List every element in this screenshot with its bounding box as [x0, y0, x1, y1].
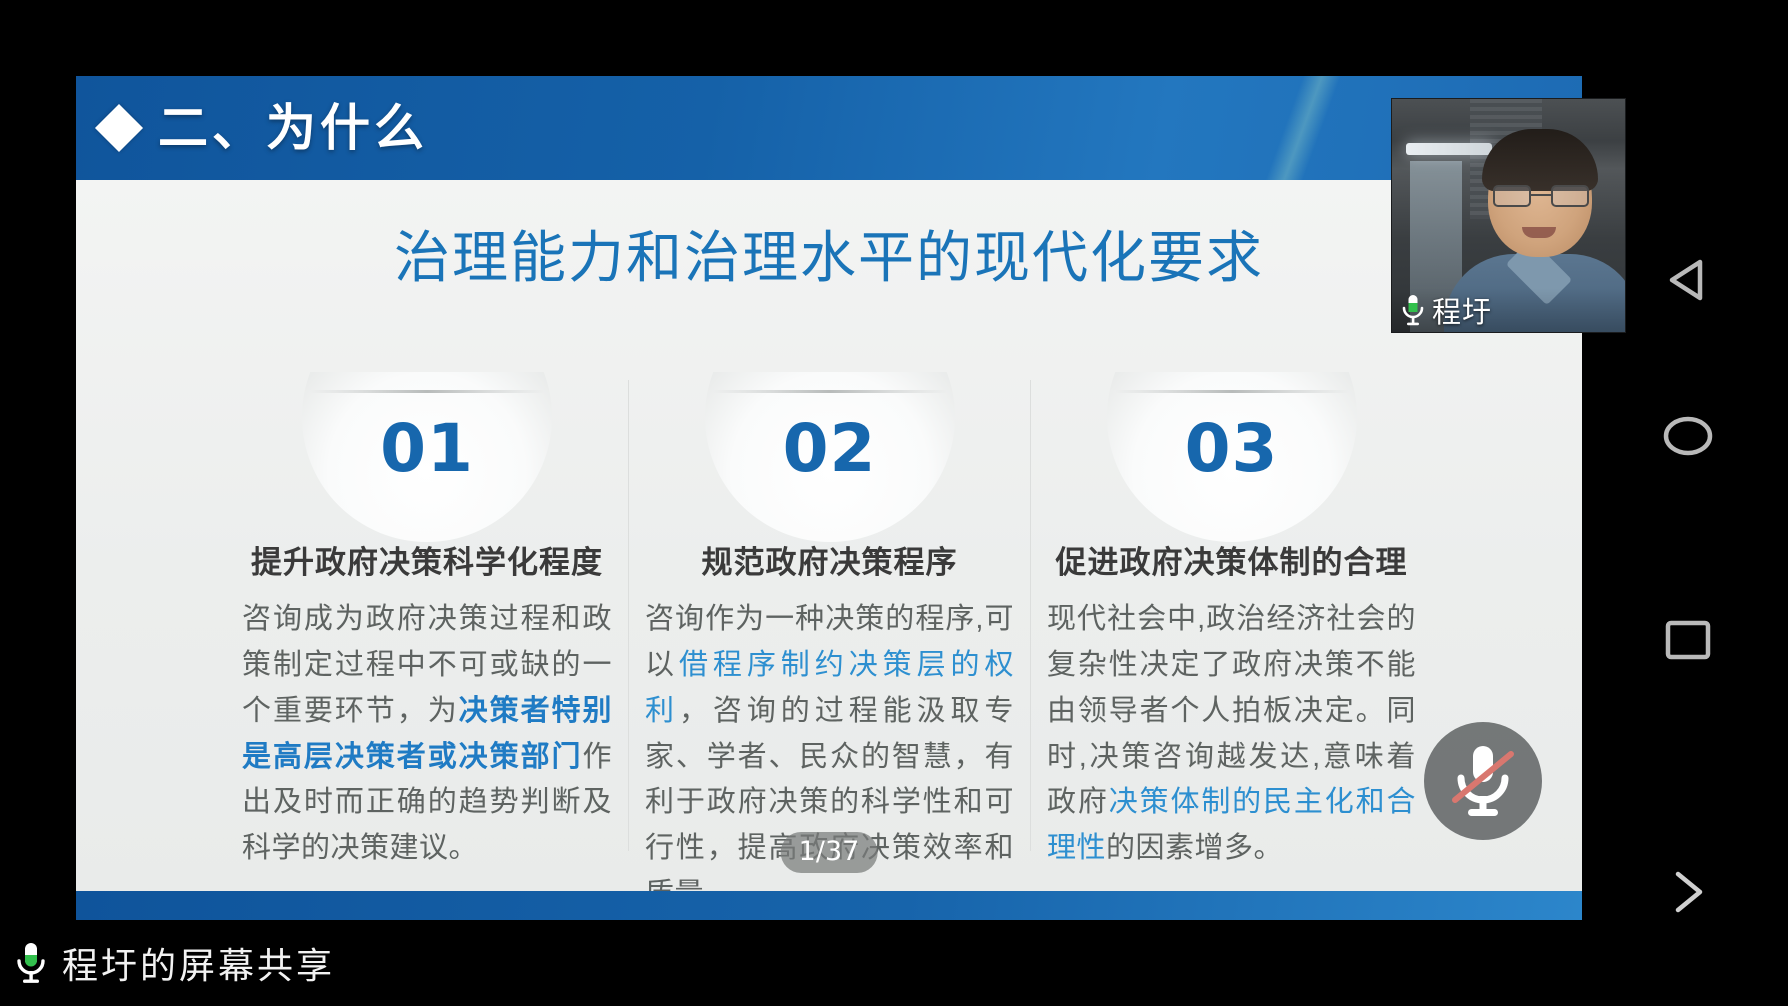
body-text-post: 的因素增多。 — [1106, 832, 1283, 864]
video-name-bar: 程圩 — [1392, 288, 1625, 332]
column-number: 03 — [1047, 380, 1416, 482]
slide-column-01: 01 提升政府决策科学化程度 咨询成为政府决策过程和政策制定过程中不可或缺的一个… — [226, 380, 628, 851]
slide-footer-bar — [76, 891, 1582, 921]
diamond-icon — [95, 104, 143, 152]
slide-header: 二、为什么 — [76, 76, 1582, 180]
video-thumbnail[interactable]: 程圩 — [1391, 98, 1626, 333]
screen-share-label: 程圩的屏幕共享 — [62, 937, 335, 989]
slide-column-03: 03 促进政府决策体制的合理 现代社会中,政治经济社会的复杂性决定了政府决策不能… — [1030, 380, 1432, 851]
microphone-icon — [14, 940, 48, 986]
column-heading: 提升政府决策科学化程度 — [242, 544, 612, 581]
column-number-block: 01 — [242, 380, 612, 530]
column-heading: 规范政府决策程序 — [645, 544, 1014, 581]
column-body: 现代社会中,政治经济社会的复杂性决定了政府决策不能由领导者个人拍板决定。同时,决… — [1047, 597, 1416, 872]
column-body: 咨询成为政府决策过程和政策制定过程中不可或缺的一个重要环节，为决策者特别是高层决… — [242, 597, 612, 872]
column-number-block: 02 — [645, 380, 1014, 530]
video-wall-light — [1406, 143, 1492, 155]
participant-name: 程圩 — [1432, 289, 1492, 331]
column-number-block: 03 — [1047, 380, 1416, 530]
slide-header-title: 二、为什么 — [158, 103, 428, 153]
column-number: 01 — [242, 380, 612, 482]
screen-share-view: 二、为什么 治理能力和治理水平的现代化要求 01 提升政府决策科学化程度 咨询成… — [0, 0, 1788, 1006]
slide-columns: 01 提升政府决策科学化程度 咨询成为政府决策过程和政策制定过程中不可或缺的一个… — [76, 380, 1582, 851]
column-number: 02 — [645, 380, 1014, 482]
slide-body: 治理能力和治理水平的现代化要求 01 提升政府决策科学化程度 咨询成为政府决策过… — [76, 180, 1582, 891]
shared-slide[interactable]: 二、为什么 治理能力和治理水平的现代化要求 01 提升政府决策科学化程度 咨询成… — [76, 76, 1582, 921]
microphone-icon — [1400, 293, 1426, 327]
microphone-muted-icon[interactable] — [1424, 722, 1542, 840]
back-triangle-icon[interactable] — [1652, 244, 1724, 316]
page-indicator: 1/37 — [781, 832, 878, 873]
slide-title: 治理能力和治理水平的现代化要求 — [76, 180, 1582, 286]
body-text-post: ，咨询的过程能汲取专家、学者、民众的智慧，有利于政府决策的科学性和可行性，提高政… — [645, 695, 1014, 910]
home-circle-icon[interactable] — [1652, 400, 1724, 472]
column-heading: 促进政府决策体制的合理 — [1047, 544, 1416, 581]
screen-share-status-bar: 程圩的屏幕共享 — [0, 920, 1788, 1006]
video-person-glasses — [1493, 185, 1589, 207]
chevron-right-icon[interactable] — [1652, 856, 1724, 928]
recents-square-icon[interactable] — [1652, 604, 1724, 676]
slide-column-02: 02 规范政府决策程序 咨询作为一种决策的程序,可以借程序制约决策层的权利，咨询… — [628, 380, 1030, 851]
